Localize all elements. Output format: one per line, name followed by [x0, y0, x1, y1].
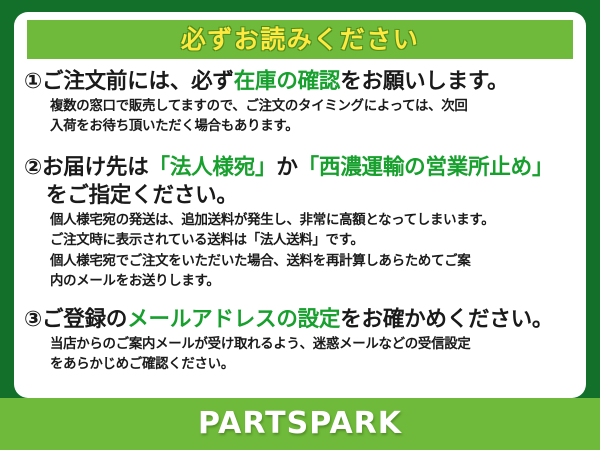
- notice-item: ①ご注文前には、必ず在庫の確認をお願いします。複数の窓口で販売してますので、ご注…: [24, 68, 578, 138]
- notice-body: ①ご注文前には、必ず在庫の確認をお願いします。複数の窓口で販売してますので、ご注…: [14, 68, 586, 377]
- item-spacer: [24, 294, 578, 306]
- page-title: 必ずお読みください: [181, 27, 420, 52]
- notice-item-detail: 当店からのご案内メールが受け取れるよう、迷惑メールなどの受信設定をあらかじめご確…: [24, 335, 578, 375]
- heading-emphasis: 「西濃運輸の営業所止め」: [298, 155, 554, 180]
- notice-item-heading: ③ご登録のメールアドレスの設定をお確かめください。: [24, 306, 578, 334]
- notice-item-heading: ②お届け先は「法人様宛」か「西濃運輸の営業所止め」をご指定ください。: [24, 154, 578, 211]
- header-banner: 必ずお読みください: [27, 20, 573, 59]
- item-number-marker: ③: [24, 307, 42, 332]
- notice-item: ②お届け先は「法人様宛」か「西濃運輸の営業所止め」をご指定ください。個人様宅宛の…: [24, 154, 578, 292]
- detail-line: 複数の窓口で販売してますので、ご注文のタイミングによっては、次回: [50, 97, 578, 117]
- heading-text: お届け先は: [42, 155, 149, 180]
- notice-item-list: ①ご注文前には、必ず在庫の確認をお願いします。複数の窓口で販売してますので、ご注…: [24, 68, 578, 375]
- item-number-marker: ②: [24, 155, 42, 180]
- heading-text: をお願いします。: [340, 69, 508, 94]
- detail-line: 個人様宅宛の発送は、追加送料が発生し、非常に高額となってしまいます。: [50, 211, 578, 231]
- notice-card: 必ずお読みください ①ご注文前には、必ず在庫の確認をお願いします。複数の窓口で販…: [14, 12, 586, 398]
- heading-emphasis: 「法人様宛」: [149, 155, 277, 180]
- heading-emphasis: 在庫の確認: [234, 69, 341, 94]
- footer-band: PARTSPARK: [0, 398, 600, 450]
- heading-continuation: をご指定ください。: [24, 182, 578, 210]
- brand-wordmark: PARTSPARK: [198, 409, 402, 439]
- notice-item-detail: 個人様宅宛の発送は、追加送料が発生し、非常に高額となってしまいます。ご注文時に表…: [24, 211, 578, 291]
- detail-line: 内のメールをお送りします。: [50, 272, 578, 292]
- item-spacer: [24, 140, 578, 154]
- heading-emphasis: メールアドレスの設定: [127, 307, 340, 332]
- detail-line: 当店からのご案内メールが受け取れるよう、迷惑メールなどの受信設定: [50, 335, 578, 355]
- heading-text: ご登録の: [42, 307, 127, 332]
- heading-text: か: [276, 155, 297, 180]
- item-number-marker: ①: [24, 69, 42, 94]
- detail-line: をあらかじめご確認ください。: [50, 355, 578, 375]
- notice-item: ③ご登録のメールアドレスの設定をお確かめください。当店からのご案内メールが受け取…: [24, 306, 578, 376]
- notice-item-heading: ①ご注文前には、必ず在庫の確認をお願いします。: [24, 68, 578, 96]
- heading-text: ご注文前には、必ず: [42, 69, 234, 94]
- detail-line: 個人様宅宛でご注文をいただいた場合、送料を再計算しあらためてご案: [50, 252, 578, 272]
- detail-line: ご注文時に表示されている送料は「法人送料」です。: [50, 231, 578, 251]
- heading-text: をお確かめください。: [340, 307, 553, 332]
- notice-item-detail: 複数の窓口で販売してますので、ご注文のタイミングによっては、次回入荷をお待ち頂い…: [24, 97, 578, 137]
- notice-frame: 必ずお読みください ①ご注文前には、必ず在庫の確認をお願いします。複数の窓口で販…: [0, 0, 600, 450]
- detail-line: 入荷をお待ち頂いただく場合もあります。: [50, 117, 578, 137]
